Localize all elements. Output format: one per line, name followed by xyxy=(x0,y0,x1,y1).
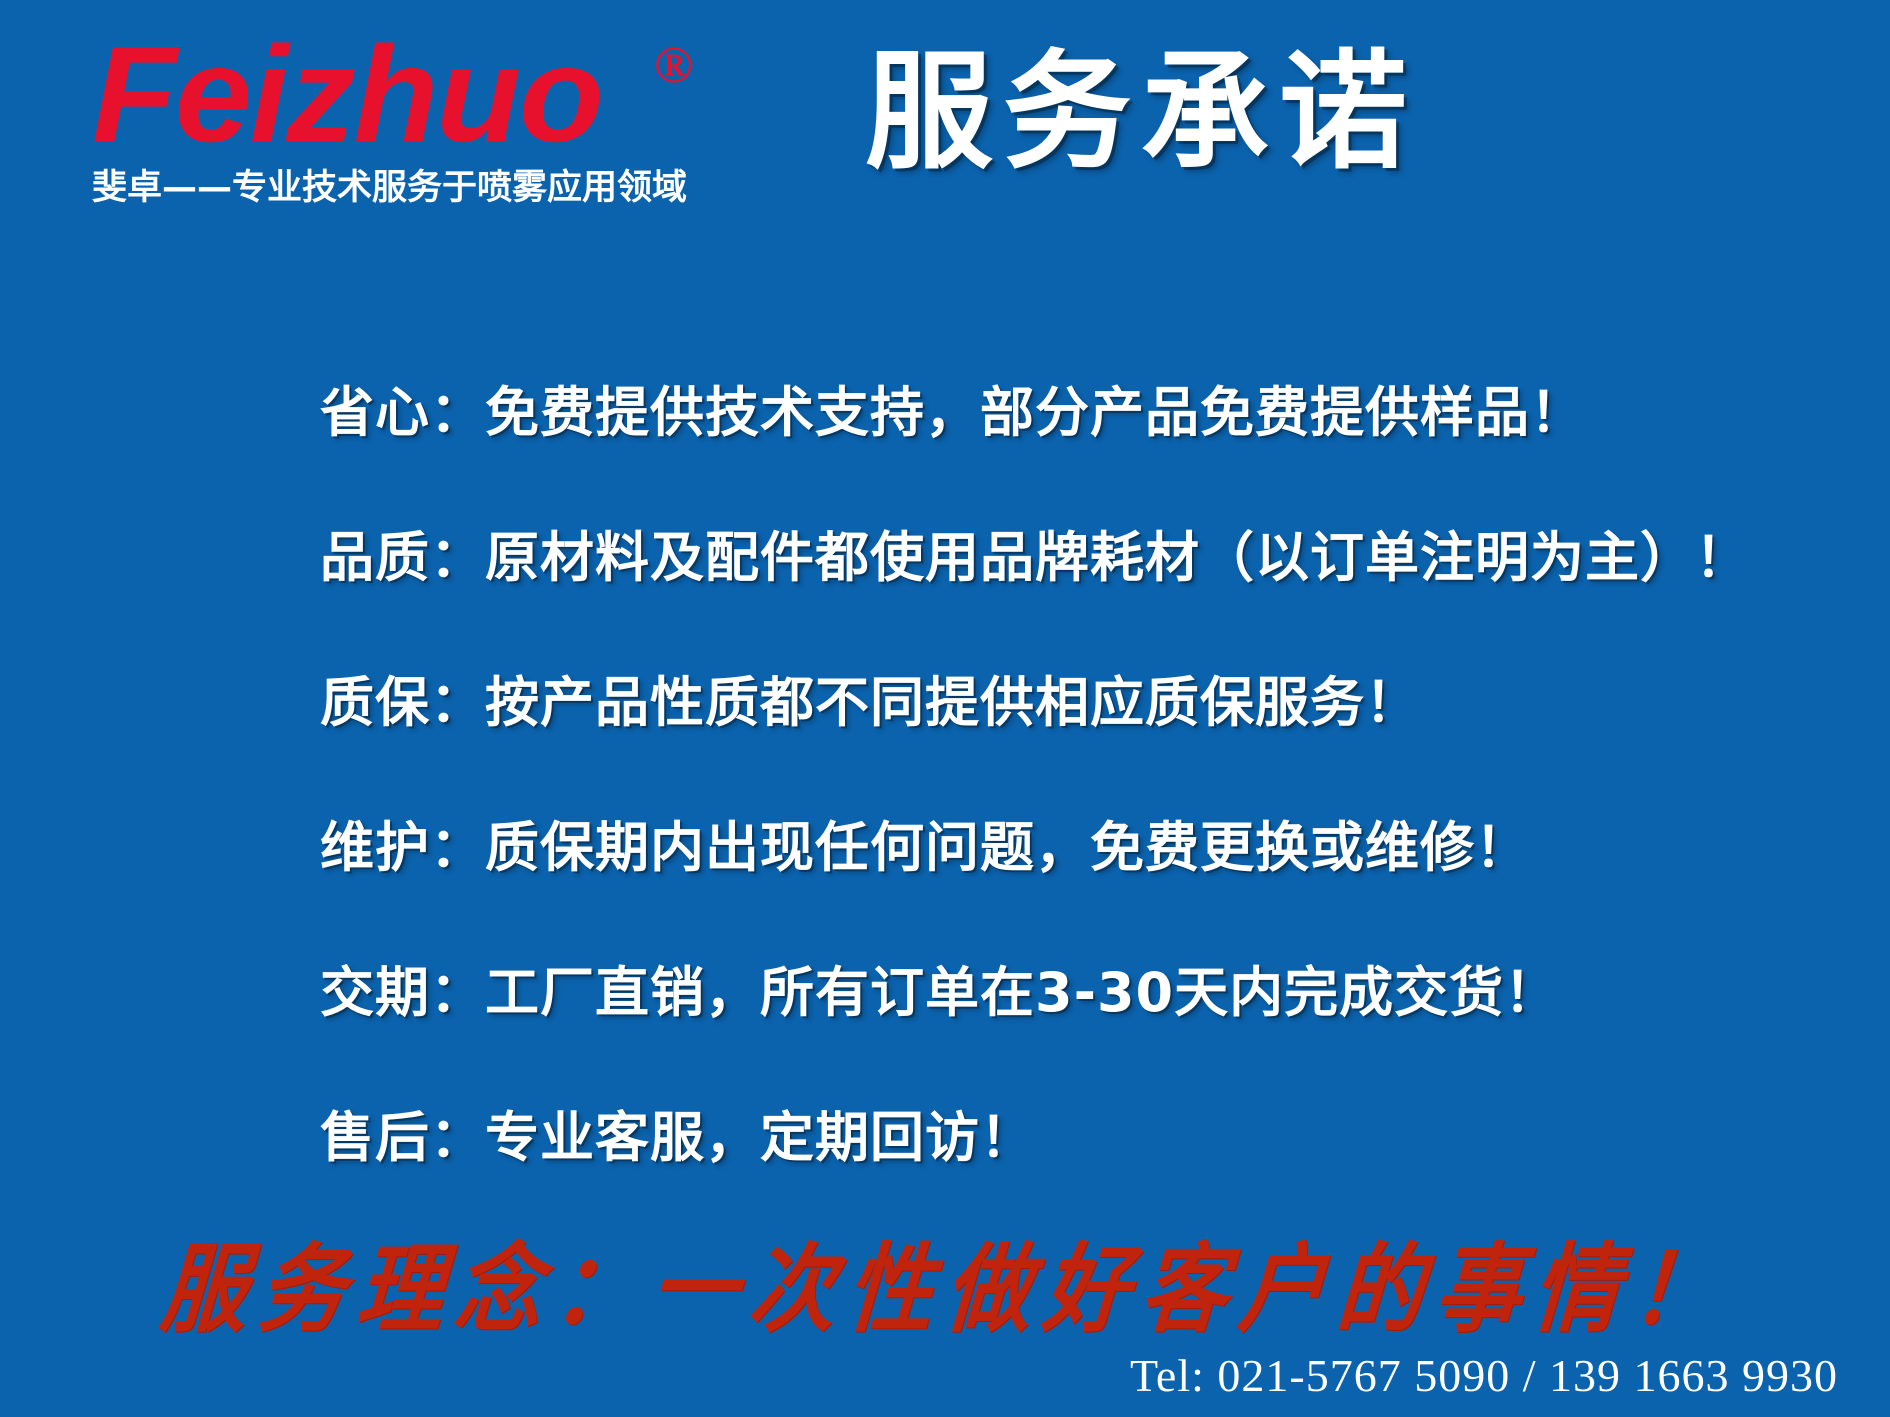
service-philosophy-slogan: 服务理念：一次性做好客户的事情！ xyxy=(0,1240,1890,1340)
registered-trademark-icon: ® xyxy=(654,40,693,92)
list-item: 售后：专业客服，定期回访！ xyxy=(0,1103,1890,1248)
promise-list: 省心：免费提供技术支持，部分产品免费提供样品！ 品质：原材料及配件都使用品牌耗材… xyxy=(0,378,1890,1248)
list-item: 交期：工厂直销，所有订单在3-30天内完成交货！ xyxy=(0,958,1890,1103)
contact-telephone: Tel: 021-5767 5090 / 139 1663 9930 xyxy=(1130,1348,1838,1404)
brand-logo: Feizhuo ® 斐卓——专业技术服务于喷雾应用领域 xyxy=(92,24,712,210)
brand-tagline: 斐卓——专业技术服务于喷雾应用领域 xyxy=(92,166,712,210)
list-item: 质保：按产品性质都不同提供相应质保服务！ xyxy=(0,668,1890,813)
list-item: 品质：原材料及配件都使用品牌耗材（以订单注明为主）！ xyxy=(0,523,1890,668)
service-promise-poster: Feizhuo ® 斐卓——专业技术服务于喷雾应用领域 服务承诺 省心：免费提供… xyxy=(0,0,1890,1417)
page-title: 服务承诺 xyxy=(865,38,1417,188)
poster-header: Feizhuo ® 斐卓——专业技术服务于喷雾应用领域 服务承诺 xyxy=(0,0,1890,250)
logo-wordmark-row: Feizhuo ® xyxy=(92,24,712,164)
list-item: 省心：免费提供技术支持，部分产品免费提供样品！ xyxy=(0,378,1890,523)
brand-wordmark: Feizhuo xyxy=(92,24,602,164)
list-item: 维护：质保期内出现任何问题，免费更换或维修！ xyxy=(0,813,1890,958)
slogan-text: 服务理念：一次性做好客户的事情！ xyxy=(157,1234,1733,1346)
